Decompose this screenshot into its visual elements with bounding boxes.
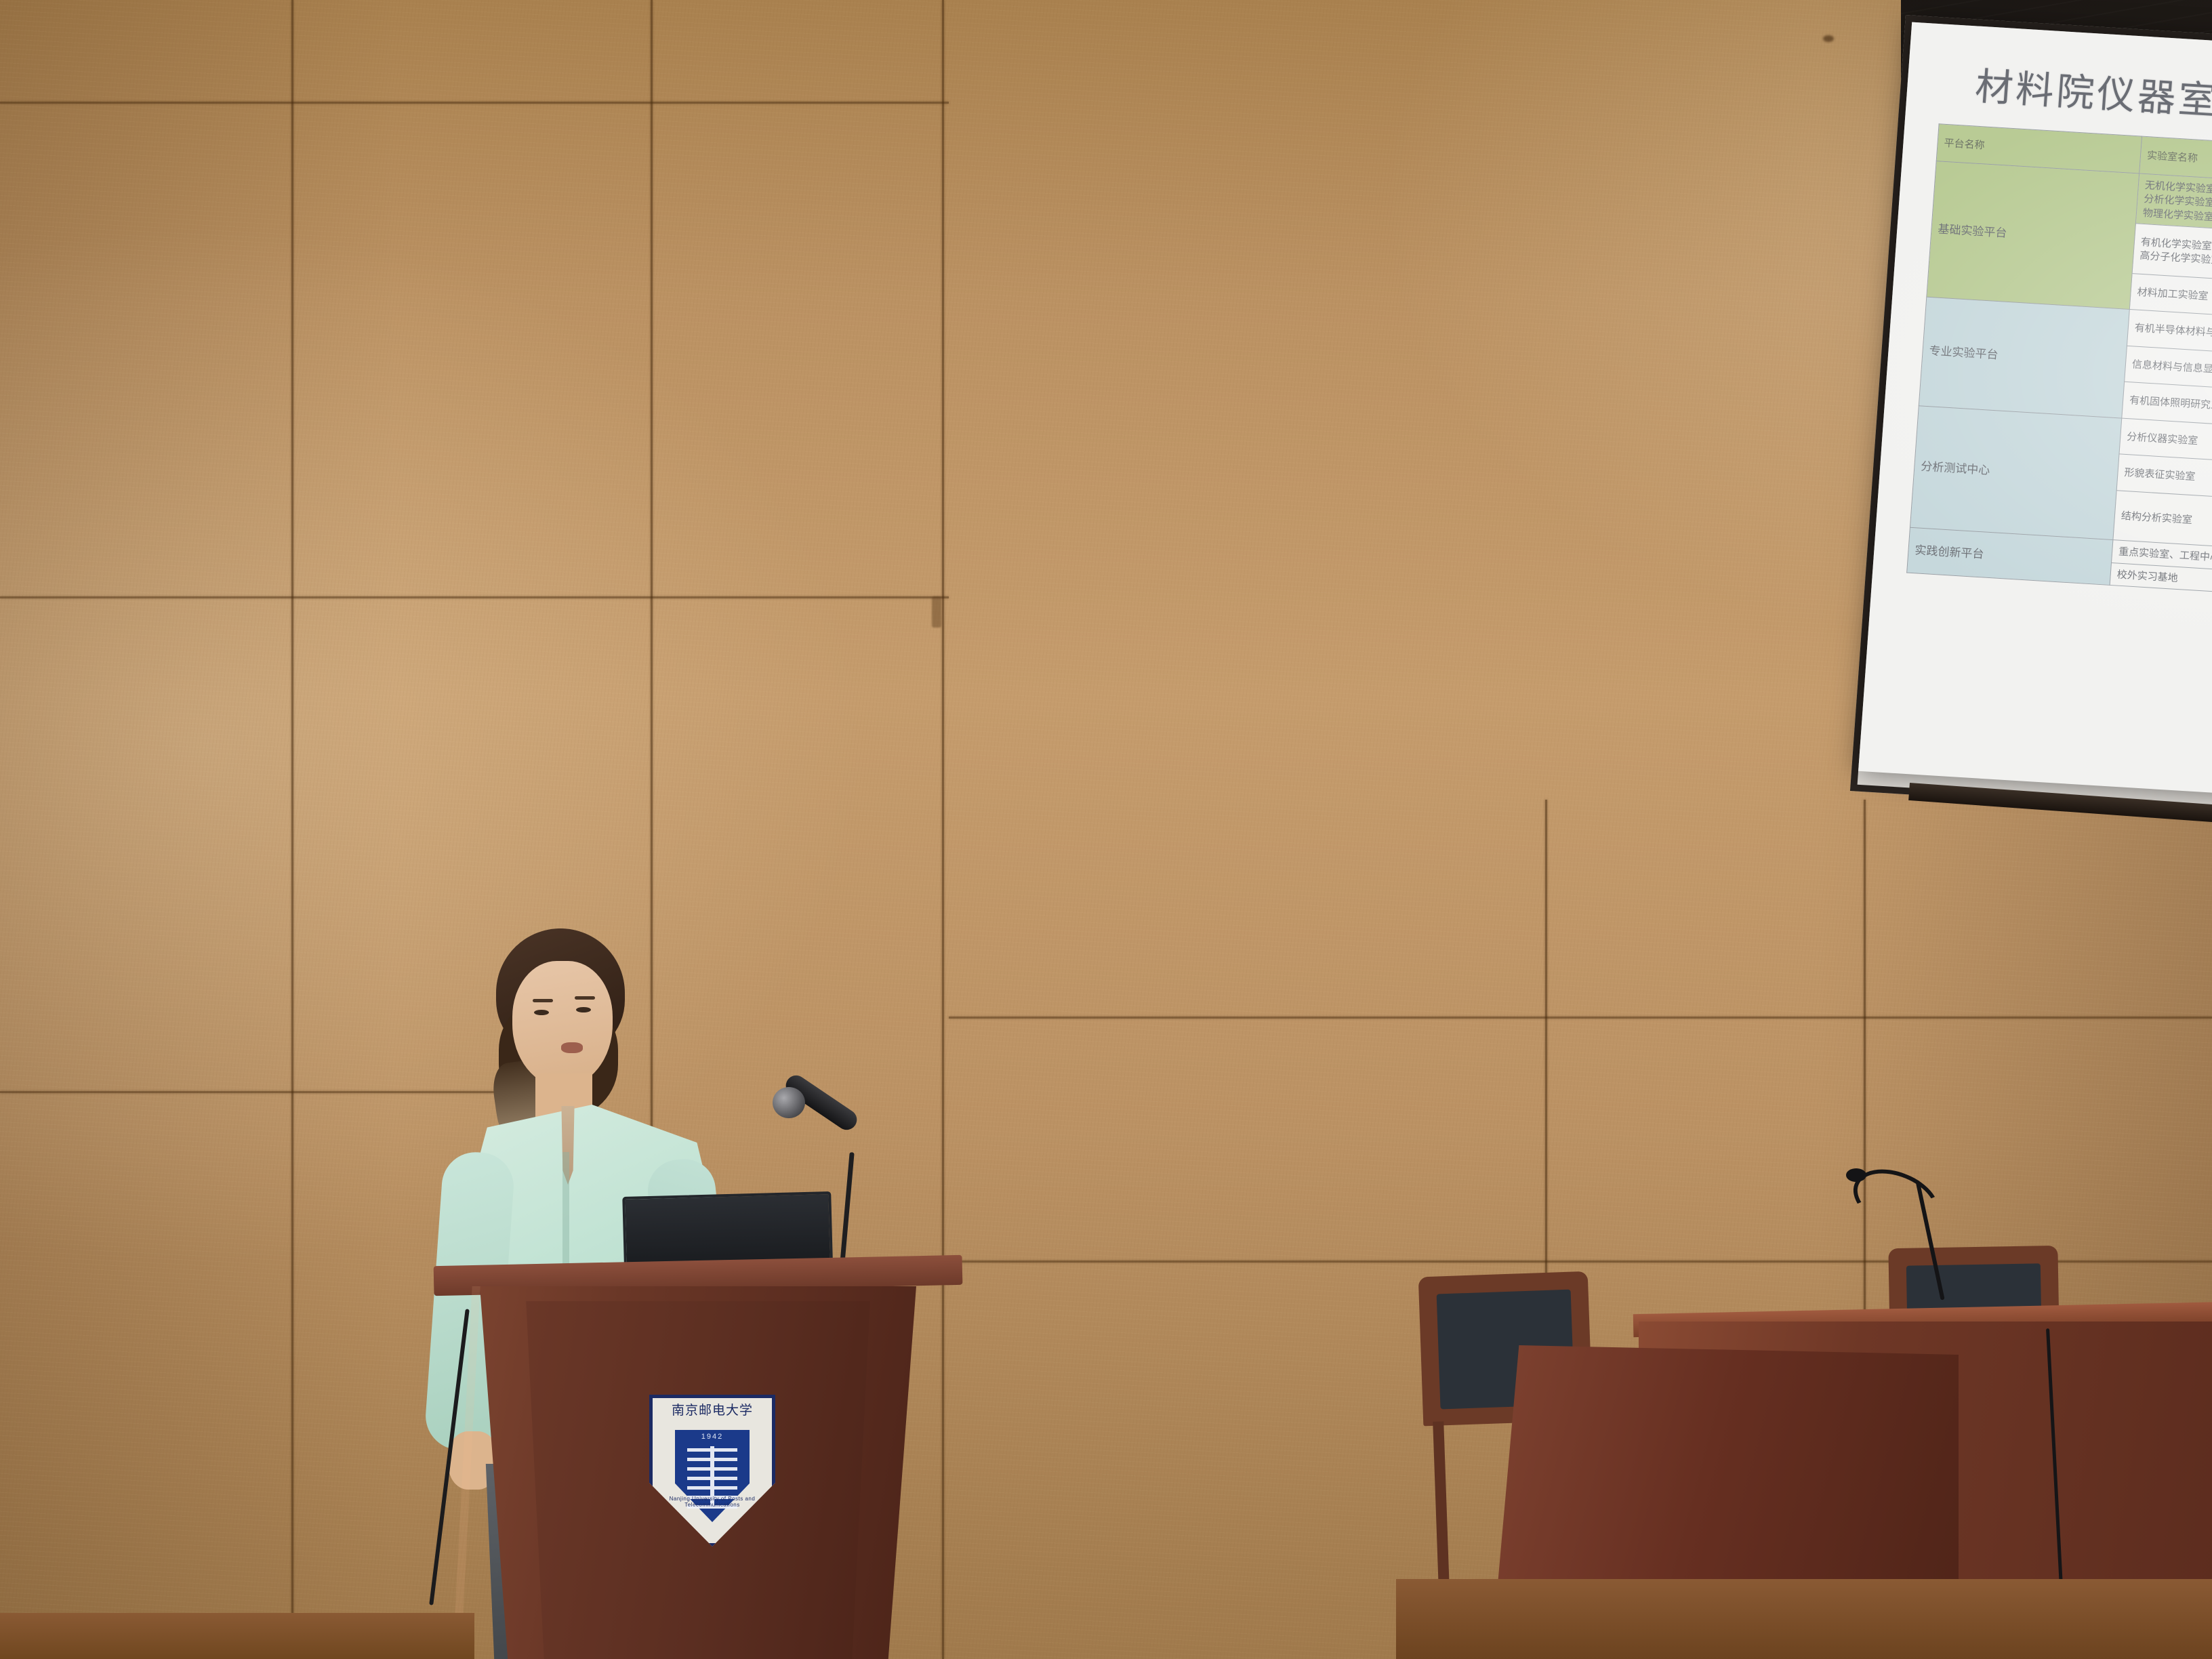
lectern-edge-highlight	[452, 1286, 480, 1659]
crest-founding-year: 1942	[675, 1433, 750, 1441]
wall-seam-horizontal	[0, 596, 949, 598]
cell-platform-name: 基础实验平台	[1927, 161, 2139, 310]
university-crest: 南京邮电大学 1942 Nanjing University of Posts …	[649, 1395, 775, 1547]
projection-screen-assembly: 材料院仪器室情况简介： 平台名称 实验室名称 实验室位置 面积（m²） 主要承担	[949, 0, 2101, 1044]
wall-seam-vertical	[291, 0, 293, 1659]
lab-inventory-table: 平台名称 实验室名称 实验室位置 面积（m²） 主要承担课程或测试 基础实验平台…	[1906, 123, 2212, 630]
table-body: 基础实验平台无机化学实验室分析化学实验室物理化学实验室教五103-106240无…	[1907, 161, 2212, 630]
lecture-hall-photo: 材料院仪器室情况简介： 平台名称 实验室名称 实验室位置 面积（m²） 主要承担	[0, 0, 2212, 1659]
screen-frame: 材料院仪器室情况简介： 平台名称 实验室名称 实验室位置 面积（m²） 主要承担	[1850, 15, 2212, 855]
lectern: 南京邮电大学 1942 Nanjing University of Posts …	[434, 1247, 962, 1659]
gooseneck-microphone-capsule	[1846, 1168, 1866, 1182]
presenter-eye-left	[534, 1010, 549, 1015]
presenter-eye-right	[576, 1007, 591, 1012]
wall-mark	[932, 596, 941, 628]
presenter-brow-right	[575, 996, 595, 1000]
cell-platform-name: 分析测试中心	[1910, 405, 2121, 540]
crest-chinese-name: 南京邮电大学	[649, 1400, 775, 1418]
projected-surface: 材料院仪器室情况简介： 平台名称 实验室名称 实验室位置 面积（m²） 主要承担	[1858, 22, 2212, 834]
cell-lab-name: 校外实习基地	[2110, 562, 2212, 602]
presenter-brow-left	[533, 999, 553, 1002]
cell-platform-name: 专业实验平台	[1919, 297, 2129, 417]
presenter-face	[512, 961, 613, 1087]
wall-seam-horizontal	[0, 102, 949, 104]
presenter-mouth	[561, 1042, 583, 1053]
crest-english-name: Nanjing University of Posts and Telecomm…	[649, 1496, 775, 1509]
microphone-head	[773, 1087, 805, 1118]
presentation-slide: 材料院仪器室情况简介： 平台名称 实验室名称 实验室位置 面积（m²） 主要承担	[1859, 22, 2212, 829]
stage-floor-left	[0, 1613, 474, 1659]
stage-floor-right	[1396, 1579, 2212, 1659]
